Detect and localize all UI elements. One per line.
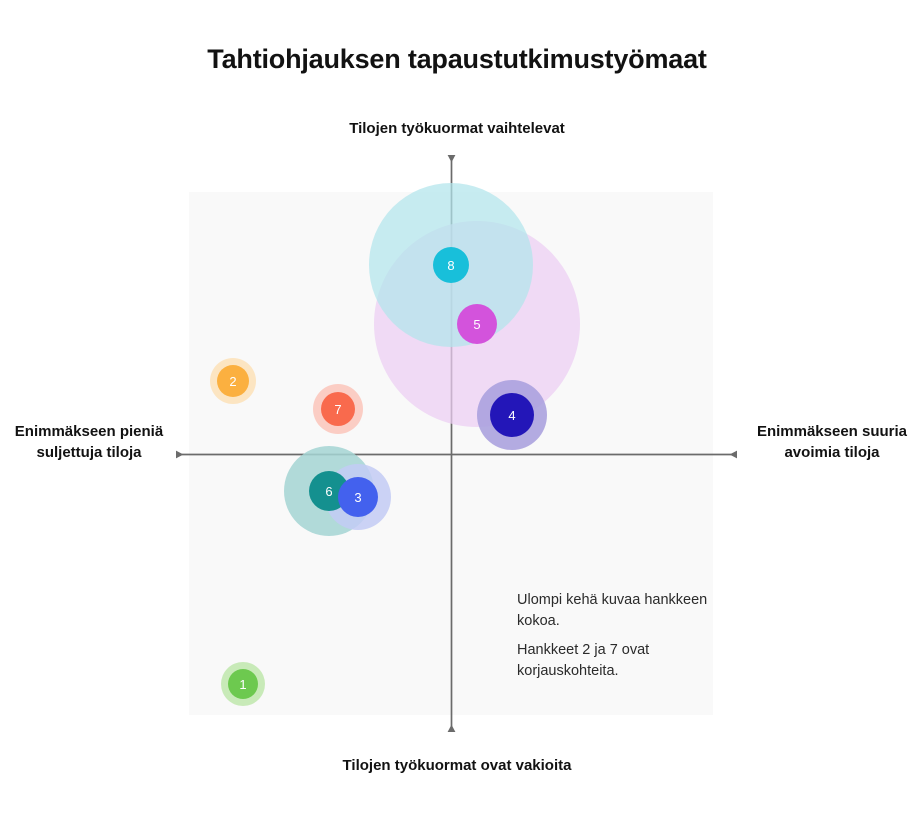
bubble-core-7[interactable]: 7 <box>321 392 355 426</box>
bubble-label-5: 5 <box>473 318 480 331</box>
axis-label-bottom: Tilojen työkuormat ovat vakioita <box>0 755 914 776</box>
page-title: Tahtiohjauksen tapaustutkimustyömaat <box>0 44 914 75</box>
bubble-core-2[interactable]: 2 <box>217 365 249 397</box>
plot-area: 5864372158643721 <box>189 192 713 715</box>
axis-label-right: Enimmäkseen suuria avoimia tiloja <box>752 421 912 464</box>
bubble-label-2: 2 <box>229 375 236 388</box>
bubble-core-3[interactable]: 3 <box>338 477 378 517</box>
annotation-size-legend: Ulompi kehä kuvaa hankkeen kokoa. <box>517 590 727 632</box>
bubble-label-1: 1 <box>239 678 246 691</box>
bubble-label-4: 4 <box>508 409 515 422</box>
bubble-label-6: 6 <box>325 485 332 498</box>
annotation-renovation-projects: Hankkeet 2 ja 7 ovat korjauskohteita. <box>517 640 727 682</box>
bubble-core-8[interactable]: 8 <box>433 247 469 283</box>
bubble-label-8: 8 <box>447 259 454 272</box>
bubble-core-4[interactable]: 4 <box>490 393 534 437</box>
axis-label-left: Enimmäkseen pieniä suljettuja tiloja <box>4 421 174 464</box>
bubble-core-5[interactable]: 5 <box>457 304 497 344</box>
bubble-core-1[interactable]: 1 <box>228 669 258 699</box>
bubble-label-3: 3 <box>354 491 361 504</box>
chart-canvas: Tahtiohjauksen tapaustutkimustyömaat Til… <box>0 0 914 826</box>
axis-label-top: Tilojen työkuormat vaihtelevat <box>0 118 914 139</box>
bubble-label-7: 7 <box>334 403 341 416</box>
